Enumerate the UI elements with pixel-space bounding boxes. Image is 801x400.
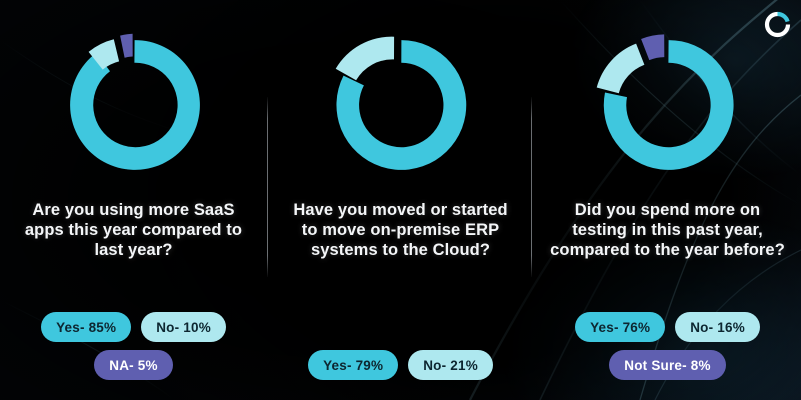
donut-1-segment-yes [70,40,200,170]
question-text-3: Did you spend more on testing in this pa… [546,200,790,260]
legend-pill-no[interactable]: No- 10% [141,312,226,342]
donut-chart-2-wrapper [306,16,496,194]
legend-pill-no[interactable]: No- 21% [408,350,493,380]
legend-2-row-1: Yes- 79% No- 21% [278,350,524,380]
donut-3-segment-no-group [596,44,644,94]
donut-chart-1 [46,17,222,193]
donut-3-segment-no [596,44,644,94]
column-divider-1 [267,97,268,277]
legend-1: Yes- 85% No- 10% NA- 5% [11,312,257,380]
column-divider-2 [531,97,532,277]
donut-3-segment-notsure-group [641,34,664,60]
legend-pill-yes[interactable]: Yes- 76% [575,312,665,342]
donut-3-segment-notsure [641,34,664,60]
donut-chart-1-wrapper [39,16,229,194]
infographic-canvas: Are you using more SaaS apps this year c… [0,0,801,400]
donut-2-segment-no-group [335,37,393,81]
legend-3: Yes- 76% No- 16% Not Sure- 8% [545,312,791,380]
question-text-2: Have you moved or started to move on-pre… [285,200,517,260]
legend-1-row-1: Yes- 85% No- 10% [11,312,257,342]
donut-1-segment-na [120,34,133,58]
question-text-1: Are you using more SaaS apps this year c… [18,200,250,260]
legend-pill-na[interactable]: Not Sure- 8% [609,350,725,380]
donut-2-segment-no [335,37,393,81]
legend-3-row-1: Yes- 76% No- 16% [545,312,791,342]
legend-3-row-2: Not Sure- 8% [545,350,791,380]
donut-chart-3-wrapper [573,16,763,194]
legend-pill-no[interactable]: No- 16% [675,312,760,342]
donut-1-segment-na-group [120,34,133,58]
survey-column-3: Did you spend more on testing in this pa… [534,0,801,400]
survey-column-1: Are you using more SaaS apps this year c… [0,0,267,400]
columns-container: Are you using more SaaS apps this year c… [0,0,801,400]
legend-2: Yes- 79% No- 21% [278,350,524,380]
donut-chart-2 [313,17,489,193]
donut-chart-3 [580,17,756,193]
survey-column-2: Have you moved or started to move on-pre… [267,0,534,400]
legend-pill-na[interactable]: NA- 5% [94,350,172,380]
legend-1-row-2: NA- 5% [11,350,257,380]
legend-pill-yes[interactable]: Yes- 85% [41,312,131,342]
legend-pill-yes[interactable]: Yes- 79% [308,350,398,380]
